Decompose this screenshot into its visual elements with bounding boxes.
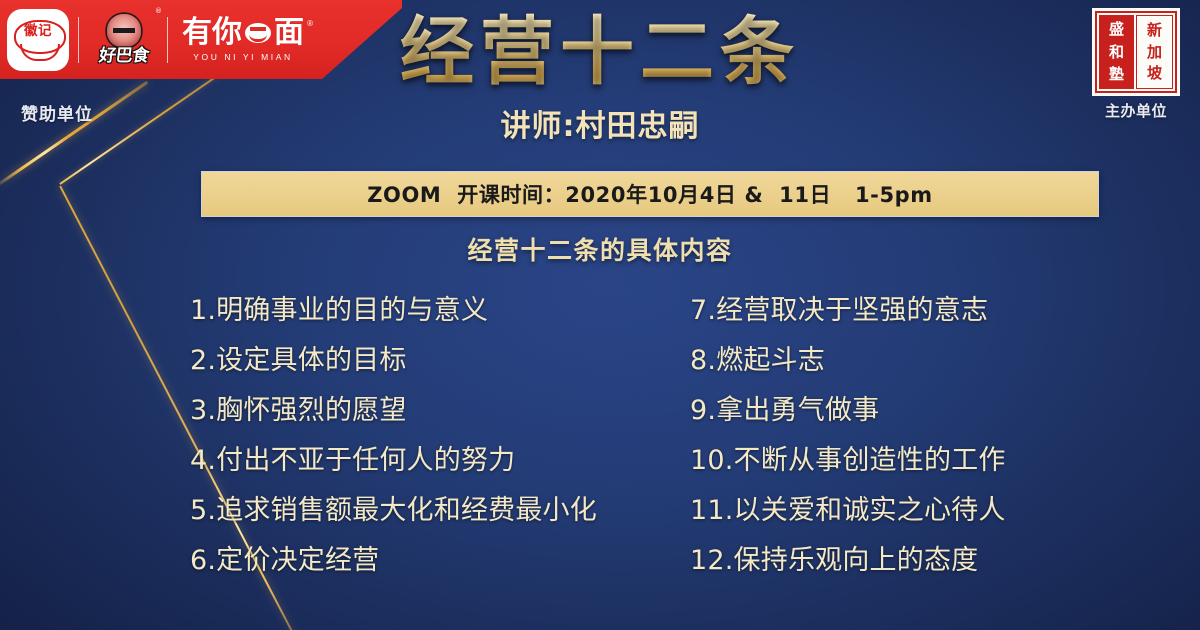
list-item: 11.以关爱和诚实之心待人: [690, 496, 1010, 526]
list-item: 3.胸怀强烈的愿望: [190, 396, 610, 426]
schedule-banner-text: ZOOM 开课时间：2020年10月4日 & 11日 1-5pm: [367, 179, 933, 209]
content-lists: 1.明确事业的目的与意义 2.设定具体的目标 3.胸怀强烈的愿望 4.付出不亚于…: [0, 296, 1200, 576]
list-item: 8.燃起斗志: [690, 346, 1010, 376]
section-heading: 经营十二条的具体内容: [0, 231, 1200, 267]
list-item: 5.追求销售额最大化和经费最小化: [190, 496, 610, 526]
list-item: 12.保持乐观向上的态度: [690, 546, 1010, 576]
list-item: 2.设定具体的目标: [190, 346, 610, 376]
list-item: 10.不断从事创造性的工作: [690, 446, 1010, 476]
list-item: 4.付出不亚于任何人的努力: [190, 446, 610, 476]
poster-root: 徽记 ® 好巴食 ® 有你 面 YOU NI YI MIAN 赞助单位 盛: [0, 0, 1200, 630]
page-title: 经营十二条: [0, 8, 1200, 96]
schedule-banner: ZOOM 开课时间：2020年10月4日 & 11日 1-5pm: [201, 171, 1099, 217]
list-column-left: 1.明确事业的目的与意义 2.设定具体的目标 3.胸怀强烈的愿望 4.付出不亚于…: [190, 296, 610, 576]
list-item: 1.明确事业的目的与意义: [190, 296, 610, 326]
list-item: 7.经营取决于坚强的意志: [690, 296, 1010, 326]
list-column-right: 7.经营取决于坚强的意志 8.燃起斗志 9.拿出勇气做事 10.不断从事创造性的…: [690, 296, 1010, 576]
list-item: 6.定价决定经营: [190, 546, 610, 576]
list-item: 9.拿出勇气做事: [690, 396, 1010, 426]
page-subtitle: 讲师:村田忠嗣: [0, 108, 1200, 146]
